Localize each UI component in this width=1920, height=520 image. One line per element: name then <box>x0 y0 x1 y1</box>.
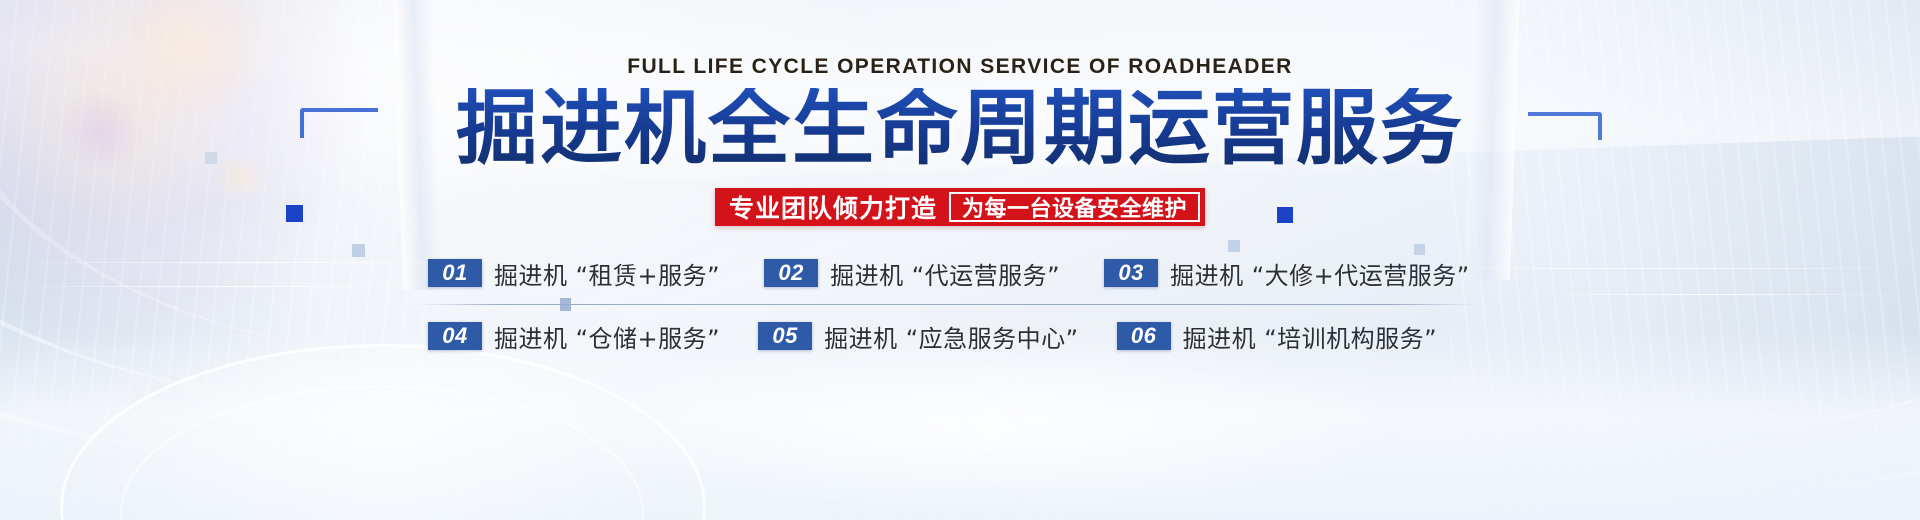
service-label: 掘进机 “仓储+服务” <box>494 319 720 354</box>
service-list: 01 掘进机 “租赁+服务” 02 掘进机 “代运营服务” 03 掘进机 “大修… <box>410 244 1510 365</box>
tagline-bar: 专业团队倾力打造 为每一台设备安全维护 <box>715 188 1205 226</box>
service-number-badge: 02 <box>764 259 818 287</box>
service-item-01[interactable]: 01 掘进机 “租赁+服务” <box>428 256 720 291</box>
service-row-1: 01 掘进机 “租赁+服务” 02 掘进机 “代运营服务” 03 掘进机 “大修… <box>410 244 1510 302</box>
service-number-badge: 04 <box>428 322 482 350</box>
service-item-03[interactable]: 03 掘进机 “大修+代运营服务” <box>1104 256 1470 291</box>
banner-content: FULL LIFE CYCLE OPERATION SERVICE OF ROA… <box>0 0 1920 520</box>
service-item-05[interactable]: 05 掘进机 “应急服务中心” <box>758 319 1079 354</box>
service-label: 掘进机 “大修+代运营服务” <box>1170 256 1470 291</box>
main-headline: 掘进机全生命周期运营服务 <box>0 88 1920 170</box>
service-label: 掘进机 “租赁+服务” <box>494 256 720 291</box>
service-divider <box>416 304 1476 305</box>
service-label: 掘进机 “应急服务中心” <box>824 319 1079 354</box>
service-divider-wrap <box>410 304 1510 305</box>
tagline-primary: 专业团队倾力打造 <box>715 188 949 226</box>
service-label: 掘进机 “培训机构服务” <box>1183 319 1438 354</box>
promo-banner: FULL LIFE CYCLE OPERATION SERVICE OF ROA… <box>0 0 1920 520</box>
service-row-2: 04 掘进机 “仓储+服务” 05 掘进机 “应急服务中心” 06 掘进机 “培… <box>410 307 1510 365</box>
tagline-secondary: 为每一台设备安全维护 <box>949 192 1200 222</box>
service-item-06[interactable]: 06 掘进机 “培训机构服务” <box>1117 319 1438 354</box>
service-item-04[interactable]: 04 掘进机 “仓储+服务” <box>428 319 720 354</box>
english-subtitle: FULL LIFE CYCLE OPERATION SERVICE OF ROA… <box>0 55 1920 79</box>
divider-tick-marker <box>560 298 571 311</box>
service-number-badge: 01 <box>428 259 482 287</box>
service-label: 掘进机 “代运营服务” <box>830 256 1060 291</box>
service-number-badge: 03 <box>1104 259 1158 287</box>
service-number-badge: 05 <box>758 322 812 350</box>
service-item-02[interactable]: 02 掘进机 “代运营服务” <box>764 256 1060 291</box>
service-number-badge: 06 <box>1117 322 1171 350</box>
